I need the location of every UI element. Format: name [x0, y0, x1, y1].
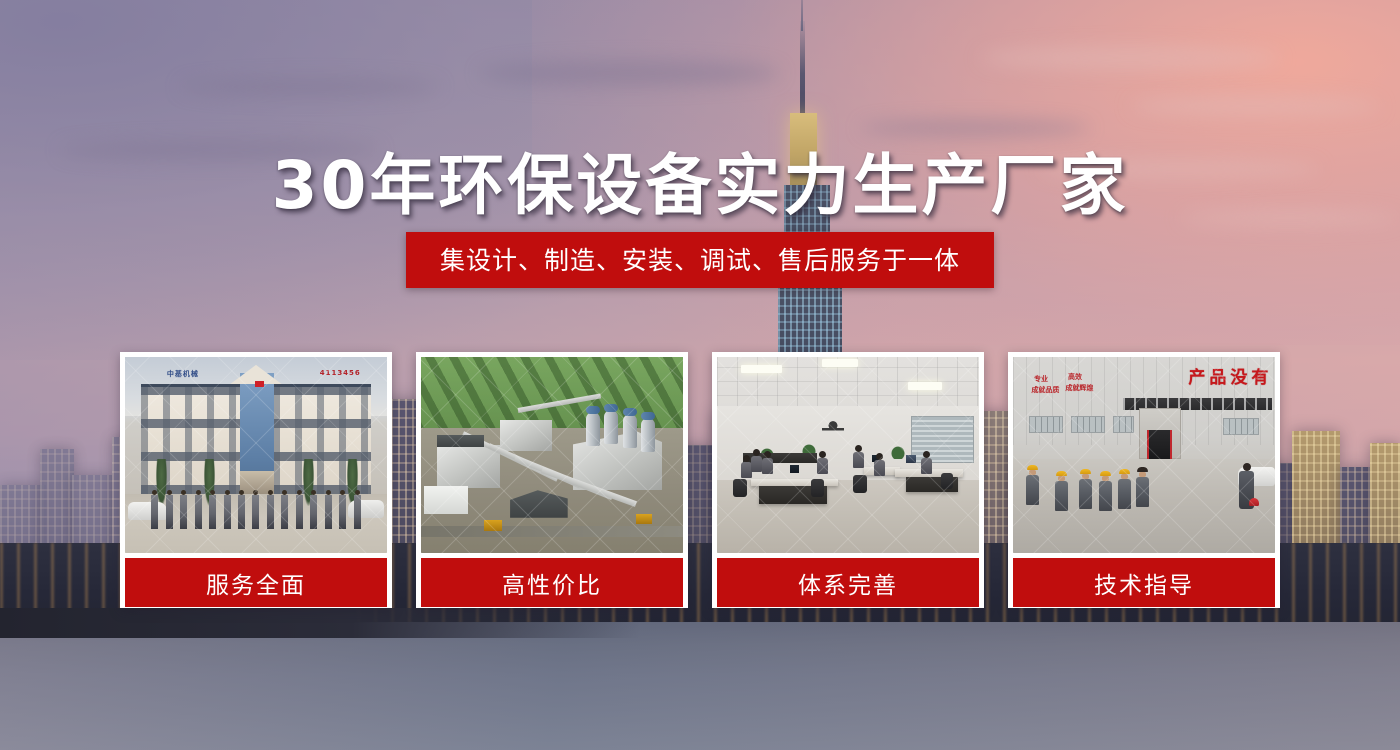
production-plant-aerial-photo	[421, 357, 683, 553]
card-caption: 体系完善	[717, 558, 979, 607]
tower-spire	[800, 21, 805, 117]
wall-emblem-icon	[822, 418, 844, 436]
workshop-training-photo: 产品没有 专业 成就品质 高效 成就辉煌	[1013, 357, 1275, 553]
factory-wall-slogan-small: 成就辉煌	[1065, 384, 1093, 392]
worker-figure	[1136, 467, 1149, 507]
factory-wall-slogan: 产品没有	[1188, 363, 1272, 388]
card-caption: 服务全面	[125, 558, 387, 607]
feature-card[interactable]: 体系完善	[712, 352, 984, 608]
red-helmet-icon	[1249, 498, 1259, 506]
subtitle-banner: 集设计、制造、安装、调试、售后服务于一体	[406, 232, 994, 288]
feature-card[interactable]: 中基机械 4113456	[120, 352, 392, 608]
subtitle-text: 集设计、制造、安装、调试、售后服务于一体	[440, 241, 960, 277]
factory-wall-slogan-small: 成就品质	[1031, 386, 1059, 394]
feature-card[interactable]: 产品没有 专业 成就品质 高效 成就辉煌	[1008, 352, 1280, 608]
building-sign-text: 中基机械	[167, 369, 199, 379]
worker-figure	[1055, 471, 1068, 511]
factory-wall-slogan-small: 高效	[1068, 373, 1082, 381]
feature-card[interactable]: 高性价比	[416, 352, 688, 608]
hero-banner: 30年环保设备实力生产厂家 集设计、制造、安装、调试、售后服务于一体 中基机械 …	[0, 0, 1400, 750]
feature-card-row: 中基机械 4113456	[120, 352, 1280, 608]
company-headquarters-photo: 中基机械 4113456	[125, 357, 387, 553]
office-interior-photo	[717, 357, 979, 553]
worker-figure	[1099, 471, 1112, 511]
card-caption: 技术指导	[1013, 558, 1275, 607]
flag-icon	[255, 381, 264, 387]
card-caption: 高性价比	[421, 558, 683, 607]
factory-wall-slogan-small: 专业	[1034, 375, 1048, 383]
worker-figure	[1079, 469, 1092, 509]
river	[0, 622, 1400, 750]
page-title: 30年环保设备实力生产厂家	[0, 132, 1400, 228]
building-phone-text: 4113456	[320, 369, 361, 377]
worker-figure	[1118, 469, 1131, 509]
worker-figure	[1026, 465, 1039, 505]
staff-lineup	[151, 490, 361, 533]
